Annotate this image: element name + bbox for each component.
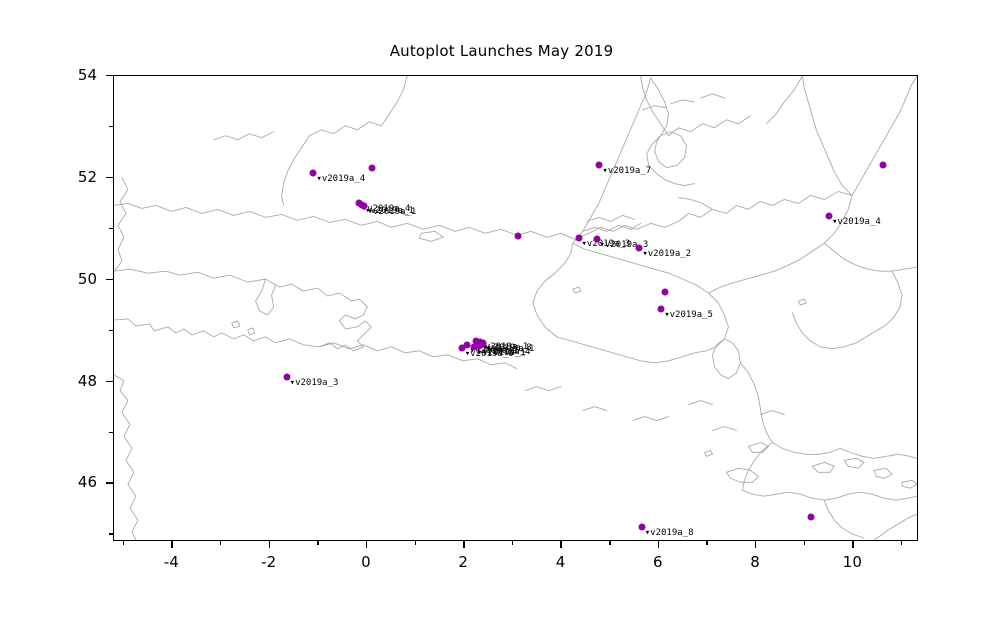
- data-point-label: ▾v2019a_7: [602, 167, 651, 176]
- axis-tick: [106, 381, 113, 382]
- axis-tick: [106, 75, 113, 76]
- axis-tick: [512, 541, 513, 545]
- axis-tick: [415, 541, 416, 545]
- axis-tick: [109, 330, 113, 331]
- data-point: [807, 513, 814, 520]
- axis-tick: [109, 228, 113, 229]
- axis-tick: [106, 177, 113, 178]
- y-tick-label: 46: [37, 473, 97, 491]
- x-tick-label: -2: [239, 553, 299, 571]
- y-tick-label: 50: [37, 270, 97, 288]
- x-tick-label: 0: [336, 553, 396, 571]
- data-point: [368, 164, 375, 171]
- axis-tick: [852, 541, 853, 548]
- y-tick-label: 48: [37, 372, 97, 390]
- axis-tick: [658, 541, 659, 548]
- chart-title: Autoplot Launches May 2019: [0, 42, 1003, 60]
- axis-tick: [109, 432, 113, 433]
- x-tick-label: 10: [822, 553, 882, 571]
- y-tick-label: 52: [37, 168, 97, 186]
- axis-tick: [560, 541, 561, 548]
- axis-tick: [706, 541, 707, 545]
- basemap-coastlines: [114, 76, 917, 540]
- data-point-label: ▾v2019a_6: [465, 350, 514, 359]
- y-tick-label: 54: [37, 66, 97, 84]
- data-point-label: ▾v2019a_3: [290, 379, 339, 388]
- data-point: [662, 289, 669, 296]
- axis-tick: [804, 541, 805, 545]
- axis-tick: [269, 541, 270, 548]
- axis-tick: [123, 541, 124, 545]
- x-tick-label: -4: [141, 553, 201, 571]
- axis-tick: [109, 533, 113, 534]
- figure-canvas: Autoplot Launches May 2019: [0, 0, 1003, 633]
- x-tick-label: 2: [433, 553, 493, 571]
- x-tick-label: 4: [530, 553, 590, 571]
- axis-tick: [109, 126, 113, 127]
- plot-area: ▾v2019a_4▾v2019a_4▾v2019a_1▾v2019a_1▾v20…: [113, 75, 918, 541]
- axis-tick: [609, 541, 610, 545]
- axis-tick: [220, 541, 221, 545]
- data-point-label: ▾v2019a_4: [832, 218, 881, 227]
- axis-tick: [171, 541, 172, 548]
- data-point: [514, 233, 521, 240]
- data-point-label: ▾v2019a_1: [367, 208, 416, 217]
- axis-tick: [755, 541, 756, 548]
- data-point-label: ▾v2019a_2: [642, 250, 691, 259]
- x-tick-label: 8: [725, 553, 785, 571]
- data-point: [879, 162, 886, 169]
- data-point-label: ▾v2019a_8: [645, 529, 694, 538]
- axis-tick: [366, 541, 367, 548]
- axis-tick: [317, 541, 318, 545]
- axis-tick: [106, 482, 113, 483]
- axis-tick: [463, 541, 464, 548]
- data-point-label: ▾v2019a_5: [664, 311, 713, 320]
- axis-tick: [901, 541, 902, 545]
- axis-tick: [106, 279, 113, 280]
- x-tick-label: 6: [628, 553, 688, 571]
- data-point-label: ▾v2019a_4: [316, 175, 365, 184]
